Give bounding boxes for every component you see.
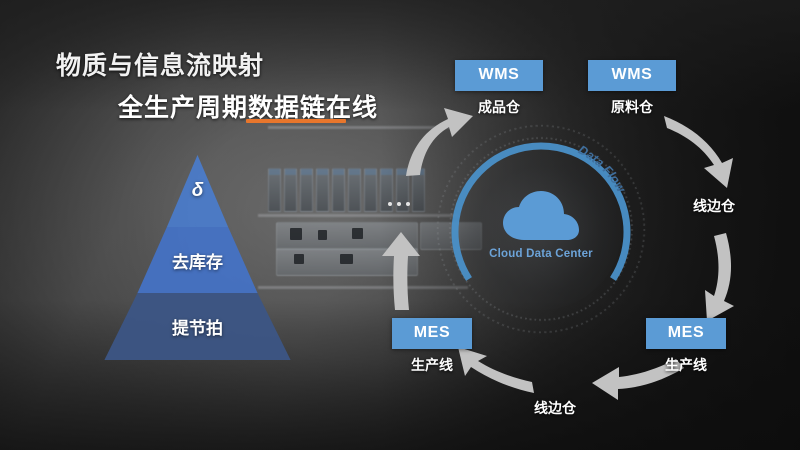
- cloud-data-center-label: Cloud Data Center: [432, 248, 650, 260]
- slide-canvas: 物质与信息流映射 全生产周期数据链在线 δ 去库存 提节拍 Data Flow: [0, 0, 800, 450]
- pyramid-tier-2-label: 去库存: [172, 248, 223, 273]
- node-mes-line-right[interactable]: MES 生产线: [646, 318, 726, 375]
- pyramid-tier-1: δ: [75, 155, 320, 227]
- pyramid-tier-2: 去库存: [75, 227, 320, 293]
- capability-pyramid: δ 去库存 提节拍: [75, 155, 320, 360]
- ellipsis-dot-2: [397, 202, 401, 206]
- node-mes-line-right-label: 生产线: [646, 355, 726, 375]
- ellipsis-dot-1: [388, 202, 392, 206]
- node-wms-finished-goods-system[interactable]: WMS: [455, 60, 543, 91]
- label-line-side-warehouse-right: 线边仓: [693, 196, 735, 216]
- node-mes-line-left-label: 生产线: [392, 355, 472, 375]
- node-wms-finished-goods-label: 成品仓: [455, 97, 543, 117]
- node-wms-raw-material-system[interactable]: WMS: [588, 60, 676, 91]
- label-line-side-warehouse-bottom: 线边仓: [534, 398, 576, 418]
- data-flow-ring: Data Flow Cloud Data Center: [432, 120, 650, 338]
- node-wms-finished-goods[interactable]: WMS 成品仓: [455, 60, 543, 117]
- ellipsis-indicator: [388, 202, 410, 206]
- node-wms-raw-material-label: 原料仓: [588, 97, 676, 117]
- cloud-icon: [502, 190, 580, 242]
- node-mes-line-left[interactable]: MES 生产线: [392, 318, 472, 375]
- pyramid-tier-3-label: 提节拍: [172, 314, 223, 339]
- heading-accent-underline: [246, 119, 346, 123]
- heading-primary: 物质与信息流映射: [56, 46, 264, 82]
- ellipsis-dot-3: [406, 202, 410, 206]
- node-mes-line-right-system[interactable]: MES: [646, 318, 726, 349]
- node-wms-raw-material[interactable]: WMS 原料仓: [588, 60, 676, 117]
- pyramid-tier-3: 提节拍: [75, 293, 320, 360]
- node-mes-line-left-system[interactable]: MES: [392, 318, 472, 349]
- pyramid-tier-1-label: δ: [192, 180, 204, 202]
